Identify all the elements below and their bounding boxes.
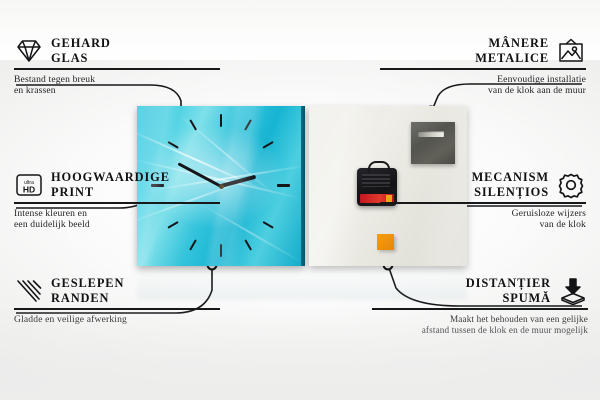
feature-gehard-glas: GEHARD GLAS Bestand tegen breuk en krass… bbox=[14, 36, 220, 97]
feature-desc-line2: van de klok bbox=[380, 219, 586, 231]
feature-desc-line1: Bestand tegen breuk bbox=[14, 74, 220, 86]
feature-divider bbox=[372, 308, 588, 309]
gear-icon bbox=[556, 171, 586, 199]
feature-desc-line2: afstand tussen de klok en de muur mogeli… bbox=[372, 325, 588, 337]
feature-title-line2: RANDEN bbox=[51, 291, 124, 306]
feature-desc-line1: Geruisloze wijzers bbox=[380, 208, 586, 220]
feature-geslepen-randen: GESLEPEN RANDEN Gladde en veilige afwerk… bbox=[14, 276, 220, 325]
feature-divider bbox=[14, 202, 220, 203]
feature-desc-line1: Gladde en veilige afwerking bbox=[14, 314, 220, 326]
feature-manere-metalice: MÂNERE METALICE Eenvoudige installatie v… bbox=[380, 36, 586, 97]
feature-title-line2: PRINT bbox=[51, 185, 170, 200]
beveled-edges-icon bbox=[14, 277, 44, 305]
feature-desc-line1: Eenvoudige installatie bbox=[380, 74, 586, 86]
feature-title: HOOGWAARDIGE bbox=[51, 170, 170, 185]
foam-spacer-part bbox=[377, 234, 394, 250]
feature-title: MECANISM bbox=[472, 170, 549, 185]
infographic-canvas: GEHARD GLAS Bestand tegen breuk en krass… bbox=[0, 0, 600, 400]
feature-title-line2: METALICE bbox=[475, 51, 549, 66]
feature-title-line2: SPUMĂ bbox=[466, 291, 551, 306]
feature-mecanism-silentios: MECANISM SILENȚIOS Geruisloze wijzers va… bbox=[380, 170, 586, 231]
feature-desc-line2: een duidelijk beeld bbox=[14, 219, 220, 231]
feature-title-line2: SILENȚIOS bbox=[472, 185, 549, 200]
feature-title: GESLEPEN bbox=[51, 276, 124, 291]
clock-hour-hand bbox=[220, 175, 256, 188]
feature-divider bbox=[14, 68, 220, 69]
foam-spacer-icon bbox=[558, 277, 588, 305]
feature-title: DISTANȚIER bbox=[466, 276, 551, 291]
feature-desc-line2: en krassen bbox=[14, 85, 220, 97]
feature-divider bbox=[380, 202, 586, 203]
feature-desc-line1: Intense kleuren en bbox=[14, 208, 220, 220]
metal-hanger-part bbox=[411, 122, 455, 164]
glass-edge bbox=[301, 106, 305, 266]
feature-title: GEHARD bbox=[51, 36, 111, 51]
feature-title-line2: GLAS bbox=[51, 51, 111, 66]
diamond-icon bbox=[14, 37, 44, 65]
feature-desc-line1: Maakt het behouden van een gelijke bbox=[372, 314, 588, 326]
feature-title: MÂNERE bbox=[475, 36, 549, 51]
ultra-hd-icon: ultra HD bbox=[14, 171, 44, 199]
feature-hoogwaardige-print: ultra HD HOOGWAARDIGE PRINT Intense kleu… bbox=[14, 170, 220, 231]
feature-desc-line2: van de klok aan de muur bbox=[380, 85, 586, 97]
feature-divider bbox=[380, 68, 586, 69]
feature-distantier-spuma: DISTANȚIER SPUMĂ Maakt het behouden van … bbox=[372, 276, 588, 337]
svg-text:HD: HD bbox=[23, 184, 35, 194]
picture-frame-hanger-icon bbox=[556, 37, 586, 65]
feature-divider bbox=[14, 308, 220, 309]
clock-second-hand bbox=[137, 106, 138, 158]
